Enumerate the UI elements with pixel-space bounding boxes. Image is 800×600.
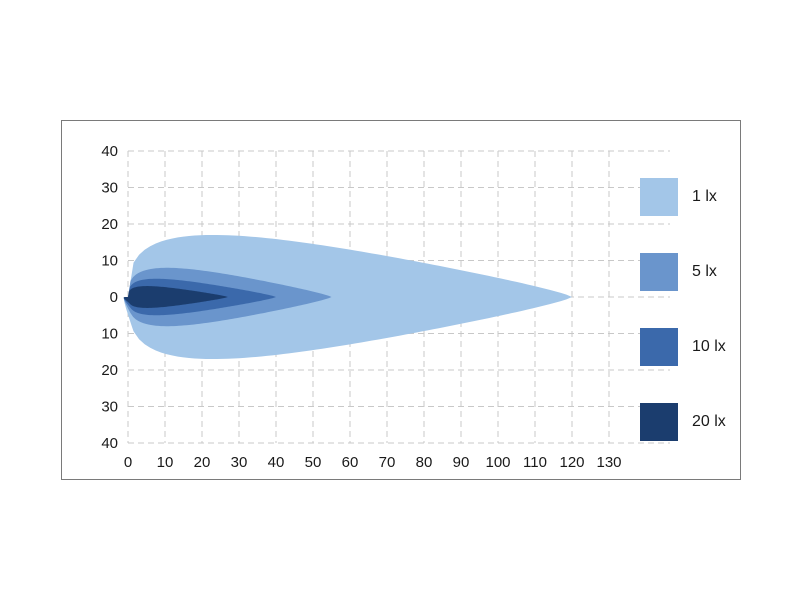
y-tick-label: 20 [101, 216, 118, 233]
legend-label-10lx: 10 lx [692, 338, 726, 356]
chart-figure: 40302010010203040 0102030405060708090100… [61, 120, 741, 480]
x-tick-label: 0 [124, 454, 132, 471]
x-tick-label: 120 [559, 454, 584, 471]
chart-legend: 1 lx 5 lx 10 lx 20 lx [640, 159, 750, 459]
x-tick-label: 110 [523, 454, 547, 471]
y-axis-tick-labels: 40302010010203040 [101, 143, 118, 452]
legend-swatch-1lx [640, 178, 678, 216]
y-tick-label: 40 [101, 143, 118, 160]
x-tick-label: 130 [596, 454, 621, 471]
x-tick-label: 20 [194, 454, 211, 471]
legend-item: 10 lx [640, 309, 750, 384]
x-tick-label: 10 [157, 454, 174, 471]
x-axis-tick-labels: 0102030405060708090100110120130 [124, 454, 622, 471]
legend-item: 5 lx [640, 234, 750, 309]
x-tick-label: 40 [268, 454, 285, 471]
y-tick-label: 40 [101, 435, 118, 452]
legend-item: 1 lx [640, 159, 750, 234]
y-tick-label: 30 [101, 180, 118, 197]
x-tick-label: 80 [416, 454, 433, 471]
x-tick-label: 70 [379, 454, 396, 471]
legend-swatch-5lx [640, 253, 678, 291]
y-tick-label: 20 [101, 362, 118, 379]
legend-swatch-20lx [640, 403, 678, 441]
x-tick-label: 60 [342, 454, 359, 471]
legend-label-20lx: 20 lx [692, 413, 726, 431]
x-tick-label: 50 [305, 454, 322, 471]
beam-contours [124, 235, 572, 359]
x-tick-label: 30 [231, 454, 248, 471]
y-tick-label: 0 [110, 289, 118, 306]
legend-swatch-10lx [640, 328, 678, 366]
legend-label-1lx: 1 lx [692, 188, 717, 206]
legend-item: 20 lx [640, 384, 750, 459]
legend-label-5lx: 5 lx [692, 263, 717, 281]
x-tick-label: 100 [485, 454, 510, 471]
x-tick-label: 90 [453, 454, 470, 471]
y-tick-label: 30 [101, 399, 118, 416]
y-tick-label: 10 [101, 326, 118, 343]
y-tick-label: 10 [101, 253, 118, 270]
